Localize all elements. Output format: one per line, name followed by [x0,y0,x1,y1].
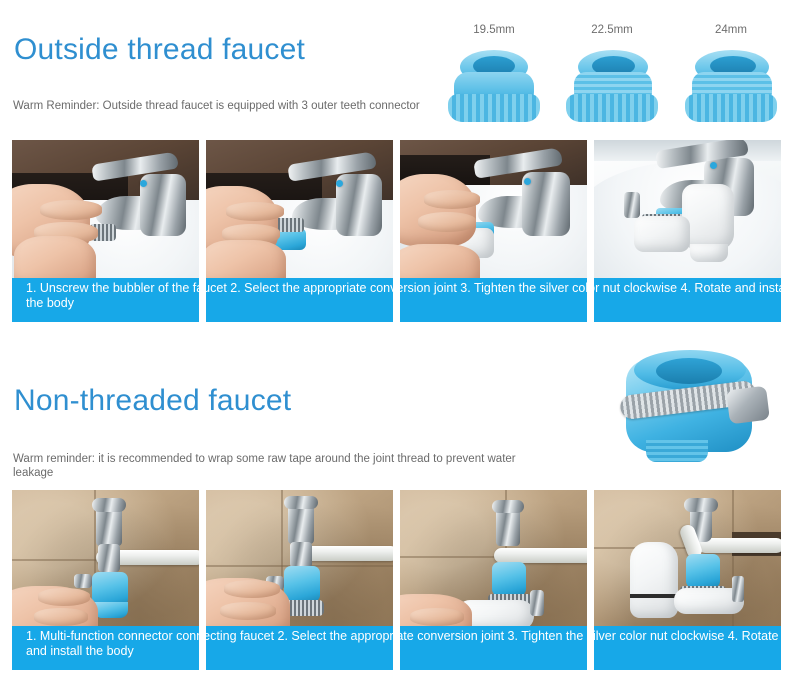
section-title-non-threaded: Non-threaded faucet [14,384,291,418]
photo-row-non-threaded [12,490,778,640]
step-photo-8 [594,490,781,640]
hero-product-image [608,344,778,460]
step-photo-7 [400,490,587,640]
adapter-24mm-image [685,50,777,128]
adapter-19-5mm-image [448,50,540,128]
step-photo-4 [594,140,781,290]
size-variants: 19.5mm 22.5mm 24mm [440,24,785,140]
caption-text-non-threaded: 1. Multi-function connector connecting f… [26,629,790,659]
section-title-outside-thread: Outside thread faucet [14,33,305,67]
step-photo-6 [206,490,393,640]
size-variant-22-5mm: 22.5mm [558,24,666,140]
step-photo-1 [12,140,199,290]
step-photo-5 [12,490,199,640]
reminder-non-threaded: Warm reminder: it is recommended to wrap… [13,452,558,480]
size-label: 24mm [677,24,785,36]
caption-text-outside-thread: 1. Unscrew the bubbler of the faucet 2. … [26,281,790,311]
step-photo-2 [206,140,393,290]
reminder-outside-thread: Warm Reminder: Outside thread faucet is … [13,99,433,113]
size-label: 22.5mm [558,24,666,36]
size-label: 19.5mm [440,24,548,36]
product-infographic: Outside thread faucet Warm Reminder: Out… [0,0,790,695]
photo-row-outside-thread [12,140,778,290]
adapter-22-5mm-image [566,50,658,128]
size-variant-19-5mm: 19.5mm [440,24,548,140]
step-photo-3 [400,140,587,290]
size-variant-24mm: 24mm [677,24,785,140]
